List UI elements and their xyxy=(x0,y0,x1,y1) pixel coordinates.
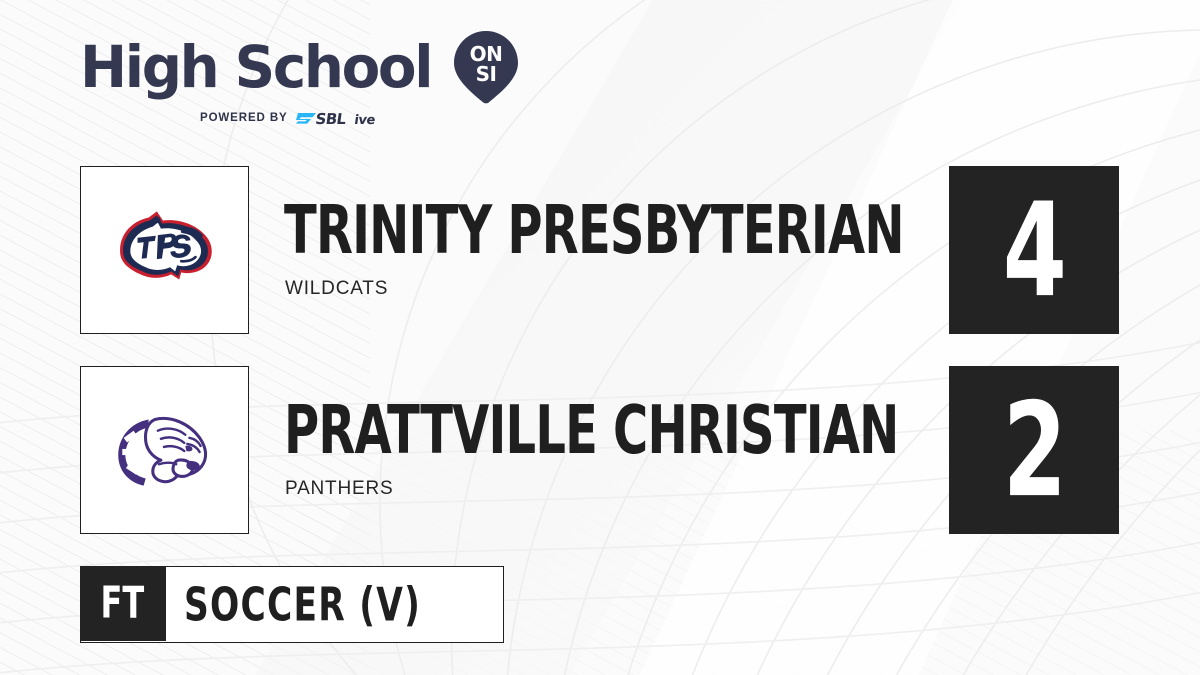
sport-label-text: SOCCER (V) xyxy=(184,581,421,627)
status-badge: FT xyxy=(80,566,166,641)
team-nickname: WILDCATS xyxy=(285,278,388,300)
team-logo-card xyxy=(80,366,249,534)
wildcat-logo-icon xyxy=(104,189,226,311)
powered-by-label: POWERED BY xyxy=(200,112,288,124)
sblive-logo-icon: SBL ive xyxy=(296,109,396,128)
team-row: TRINITY PRESBYTERIAN WILDCATS 4 xyxy=(0,166,1200,334)
svg-text:SBL: SBL xyxy=(314,110,347,128)
team-score-box: 2 xyxy=(949,366,1119,534)
brand-wordmark: High School xyxy=(80,38,431,96)
svg-text:SI: SI xyxy=(476,62,497,86)
panther-logo-icon xyxy=(104,389,226,511)
team-score: 2 xyxy=(1003,385,1065,515)
on-si-pin-icon: ON SI xyxy=(452,30,520,104)
team-info: TRINITY PRESBYTERIAN WILDCATS xyxy=(284,166,904,334)
team-score-box: 4 xyxy=(949,166,1119,334)
team-logo-card xyxy=(80,166,249,334)
team-score: 4 xyxy=(1003,185,1065,315)
team-info: PRATTVILLE CHRISTIAN PANTHERS xyxy=(284,366,904,534)
sport-label: SOCCER (V) xyxy=(166,567,503,642)
status-code-text: FT xyxy=(101,581,145,625)
team-name: TRINITY PRESBYTERIAN xyxy=(284,197,904,264)
svg-text:ive: ive xyxy=(353,113,376,128)
brand-logo: High School ON SI POWERED BY SBL ive xyxy=(80,36,520,128)
team-nickname: PANTHERS xyxy=(285,478,393,500)
game-status-bar: FT SOCCER (V) xyxy=(80,566,504,643)
team-name: PRATTVILLE CHRISTIAN xyxy=(284,397,899,464)
team-row: PRATTVILLE CHRISTIAN PANTHERS 2 xyxy=(0,366,1200,534)
